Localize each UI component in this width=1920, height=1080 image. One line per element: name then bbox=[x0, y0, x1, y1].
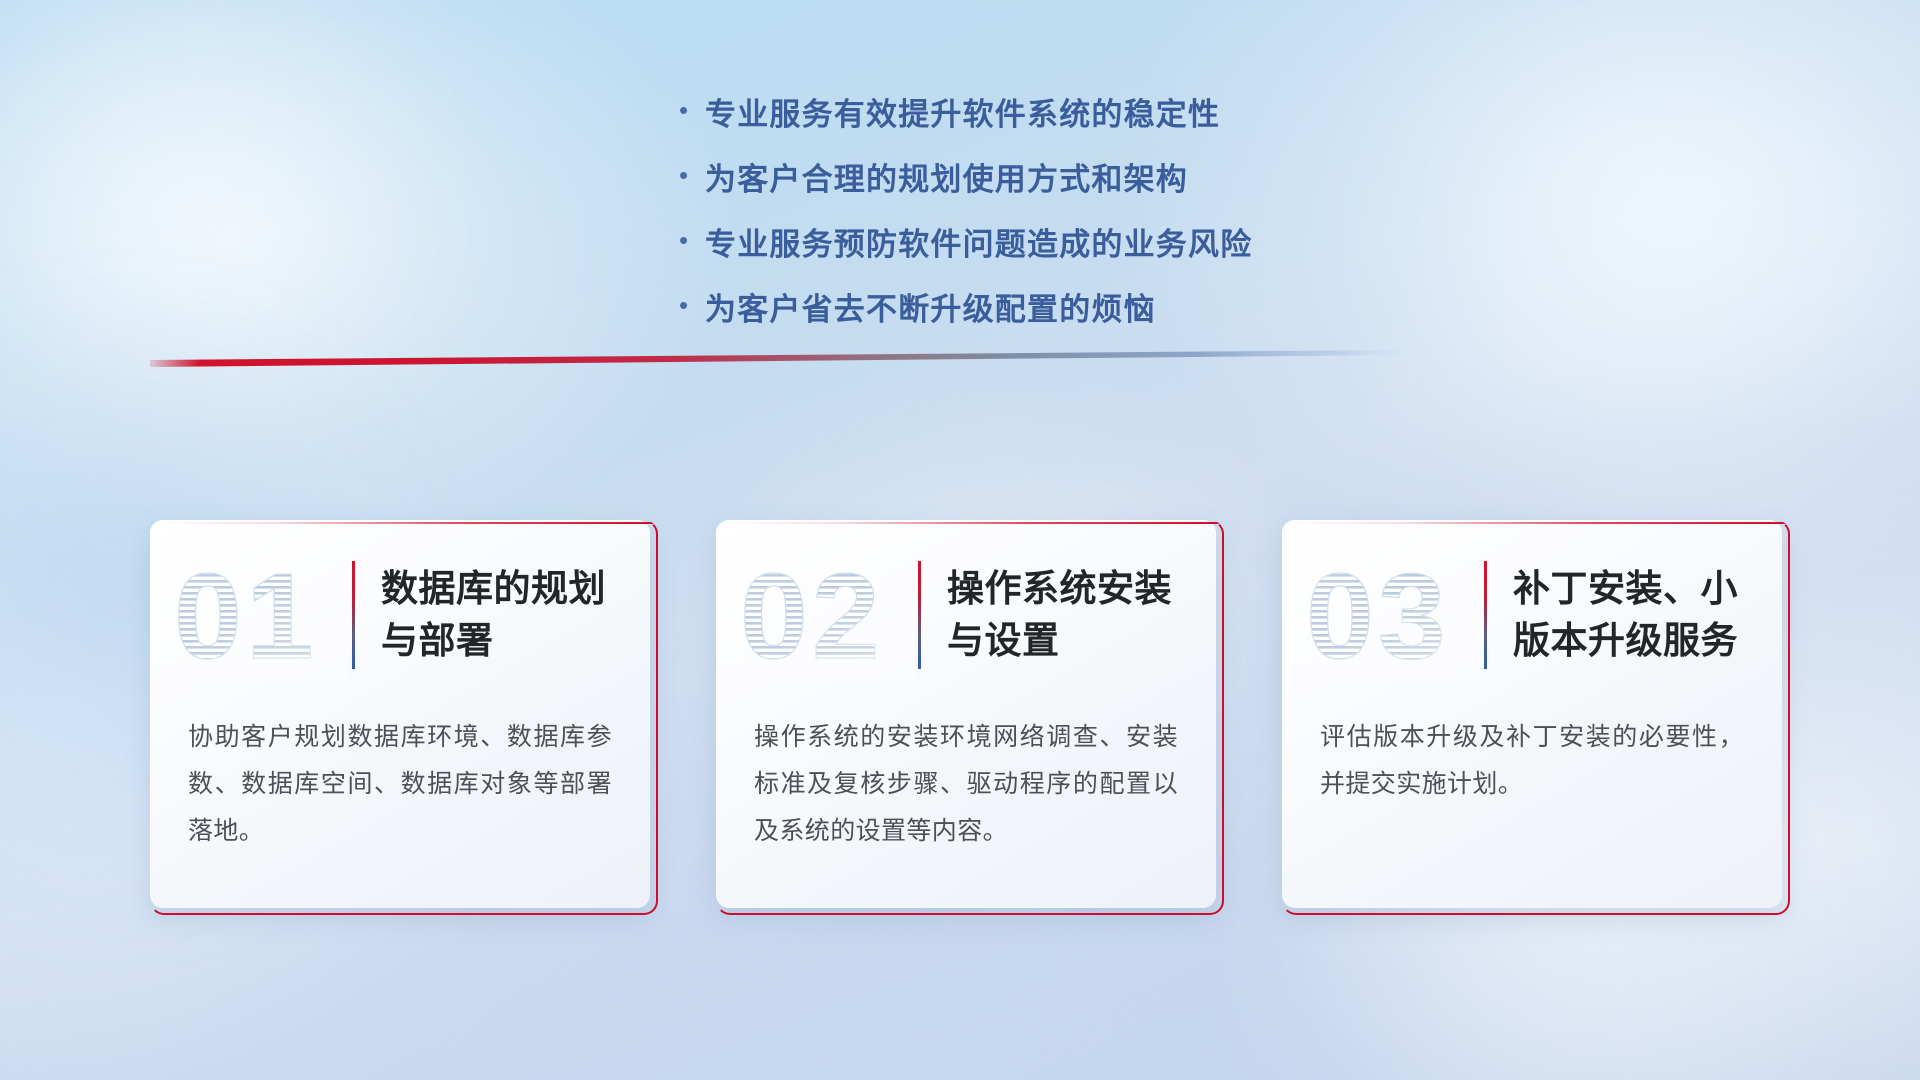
service-card[interactable]: 02 操作系统安装与设置 操作系统的安装环境网络调查、安装标准及复核步骤、驱动程… bbox=[716, 520, 1224, 915]
card-accent-rule bbox=[1484, 561, 1487, 669]
card-description: 评估版本升级及补丁安装的必要性，并提交实施计划。 bbox=[1282, 710, 1782, 808]
striped-number-icon: 03 bbox=[1300, 550, 1480, 680]
service-cards: 01 数据库的规划与部署 协助客户规划数据库环境、数据库参数、数据库空间、数据库… bbox=[150, 520, 1790, 915]
striped-number-icon: 01 bbox=[168, 550, 348, 680]
card-header: 02 操作系统安装与设置 bbox=[716, 520, 1216, 710]
striped-number-icon: 02 bbox=[734, 550, 914, 680]
card-header: 01 数据库的规划与部署 bbox=[150, 520, 650, 710]
list-item: • 专业服务有效提升软件系统的稳定性 bbox=[679, 92, 1319, 157]
divider-shape-icon bbox=[150, 340, 1400, 376]
list-item: • 专业服务预防软件问题造成的业务风险 bbox=[679, 222, 1319, 287]
card-title: 数据库的规划与部署 bbox=[381, 563, 624, 667]
benefits-bullet-list: • 专业服务有效提升软件系统的稳定性 • 为客户合理的规划使用方式和架构 • 专… bbox=[0, 92, 1920, 352]
bullet-text: 专业服务有效提升软件系统的稳定性 bbox=[705, 92, 1220, 138]
bullet-dot-icon: • bbox=[679, 227, 705, 253]
bullet-dot-icon: • bbox=[679, 292, 705, 318]
card-surface: 02 操作系统安装与设置 操作系统的安装环境网络调查、安装标准及复核步骤、驱动程… bbox=[716, 520, 1216, 908]
section-divider bbox=[150, 340, 1400, 376]
list-item: • 为客户合理的规划使用方式和架构 bbox=[679, 157, 1319, 222]
card-surface: 01 数据库的规划与部署 协助客户规划数据库环境、数据库参数、数据库空间、数据库… bbox=[150, 520, 650, 908]
bullet-text: 为客户省去不断升级配置的烦恼 bbox=[705, 287, 1156, 333]
bullet-text: 专业服务预防软件问题造成的业务风险 bbox=[705, 222, 1252, 268]
card-number-graphic: 03 bbox=[1300, 550, 1480, 680]
bullet-dot-icon: • bbox=[679, 162, 705, 188]
service-card[interactable]: 03 补丁安装、小版本升级服务 评估版本升级及补丁安装的必要性，并提交实施计划。 bbox=[1282, 520, 1790, 915]
card-number-graphic: 01 bbox=[168, 550, 348, 680]
bullet-dot-icon: • bbox=[679, 97, 705, 123]
card-title: 操作系统安装与设置 bbox=[947, 563, 1190, 667]
card-description: 操作系统的安装环境网络调查、安装标准及复核步骤、驱动程序的配置以及系统的设置等内… bbox=[716, 710, 1216, 855]
card-title: 补丁安装、小版本升级服务 bbox=[1513, 563, 1756, 667]
service-card[interactable]: 01 数据库的规划与部署 协助客户规划数据库环境、数据库参数、数据库空间、数据库… bbox=[150, 520, 658, 915]
card-surface: 03 补丁安装、小版本升级服务 评估版本升级及补丁安装的必要性，并提交实施计划。 bbox=[1282, 520, 1782, 908]
card-number-graphic: 02 bbox=[734, 550, 914, 680]
bullet-text: 为客户合理的规划使用方式和架构 bbox=[705, 157, 1188, 203]
card-header: 03 补丁安装、小版本升级服务 bbox=[1282, 520, 1782, 710]
card-description: 协助客户规划数据库环境、数据库参数、数据库空间、数据库对象等部署落地。 bbox=[150, 710, 650, 855]
card-accent-rule bbox=[918, 561, 921, 669]
card-accent-rule bbox=[352, 561, 355, 669]
